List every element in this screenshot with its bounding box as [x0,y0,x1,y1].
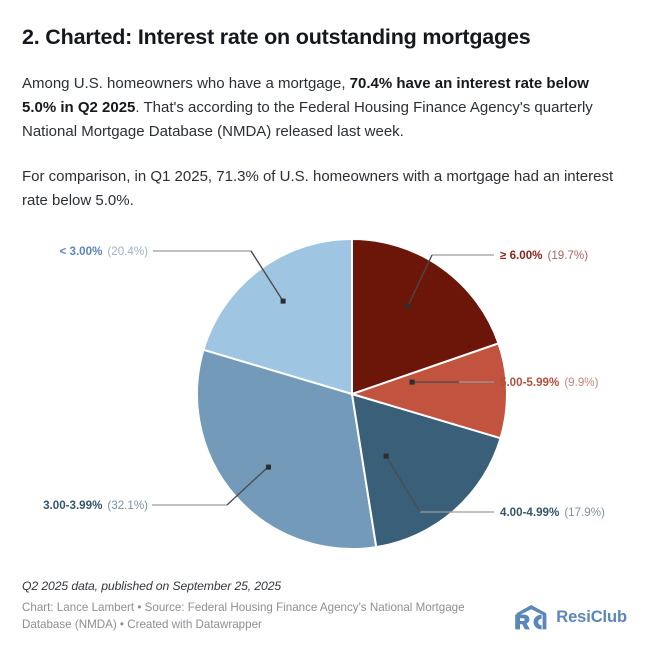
slice-label-3-00-3-99-value: (32.1%) [107,499,148,512]
page-title: 2. Charted: Interest rate on outstanding… [22,0,627,51]
slice-label-lt-3-00-category: < 3.00% [60,245,103,258]
slice-label-5-00-5-99-category: 5.00-5.99% [500,376,559,389]
slice-label-lt-3-00: < 3.00%(20.4%) [60,245,149,258]
resiclub-mark-icon [513,604,549,631]
resiclub-logo[interactable]: ResiClub [513,604,627,633]
footer-row: Chart: Lance Lambert • Source: Federal H… [22,600,627,633]
slice-label-3-00-3-99-category: 3.00-3.99% [43,499,102,512]
leader-dot-lt-3-00 [281,299,286,304]
pie-chart: < 3.00%(20.4%) 3.00-3.99%(32.1%) ≥ 6.00%… [22,229,627,559]
leader-dot-ge-6-00 [406,304,411,309]
pie-accurate [197,239,507,549]
leader-dot-4-00-4-99 [384,454,389,459]
slice-label-ge-6-00-value: (19.7%) [547,249,588,262]
intro-text-part-1: Among U.S. homeowners who have a mortgag… [22,75,350,92]
pie-chart-svg: < 3.00%(20.4%) 3.00-3.99%(32.1%) ≥ 6.00%… [22,229,627,559]
footer-note: Q2 2025 data, published on September 25,… [22,579,627,593]
slice-label-4-00-4-99-category: 4.00-4.99% [500,506,559,519]
intro-paragraph: Among U.S. homeowners who have a mortgag… [22,51,622,145]
page-root: 2. Charted: Interest rate on outstanding… [0,0,649,647]
slice-label-lt-3-00-value: (20.4%) [107,245,148,258]
leader-dot-5-00-5-99 [410,380,415,385]
footer-credit: Chart: Lance Lambert • Source: Federal H… [22,600,482,633]
slice-label-4-00-4-99: 4.00-4.99%(17.9%) [500,506,605,519]
slice-label-ge-6-00-category: ≥ 6.00% [500,249,542,262]
resiclub-wordmark: ResiClub [556,608,627,627]
slice-label-3-00-3-99: 3.00-3.99%(32.1%) [43,499,148,512]
chart-footer: Q2 2025 data, published on September 25,… [22,579,627,633]
slice-label-4-00-4-99-value: (17.9%) [564,506,605,519]
slice-label-5-00-5-99-value: (9.9%) [564,376,598,389]
leader-dot-3-00-3-99 [266,465,271,470]
slice-label-5-00-5-99: 5.00-5.99%(9.9%) [500,376,599,389]
comparison-paragraph: For comparison, in Q1 2025, 71.3% of U.S… [22,145,622,214]
slice-label-ge-6-00: ≥ 6.00%(19.7%) [500,249,588,262]
